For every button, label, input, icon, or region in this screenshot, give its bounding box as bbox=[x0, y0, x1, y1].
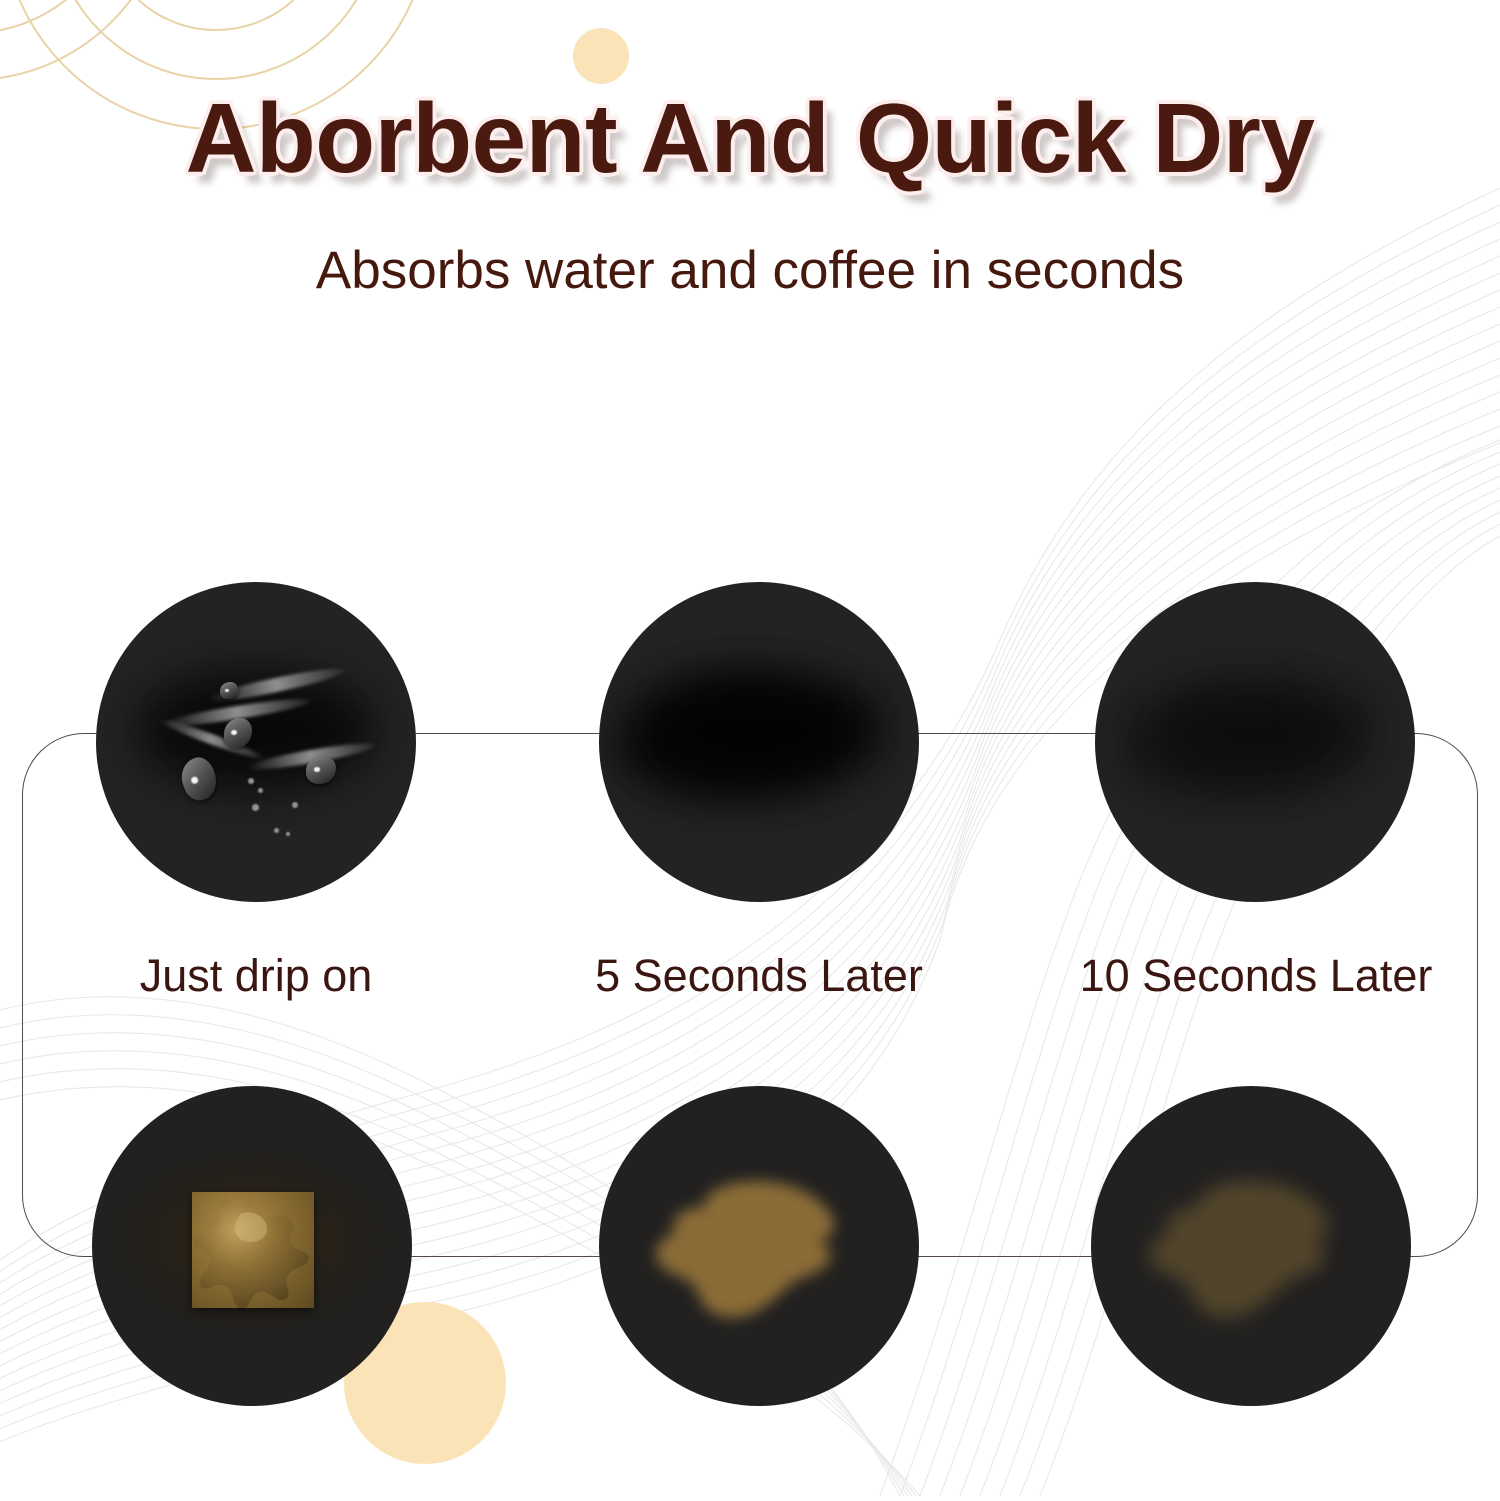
stage-label-2: 5 Seconds Later bbox=[587, 950, 931, 1002]
droplet-highlight bbox=[314, 767, 321, 772]
absorption-demo-grid: Just drip on 5 Seconds Later 10 Seconds … bbox=[0, 0, 1500, 1496]
water-stage-2-disc bbox=[599, 582, 919, 902]
water-stage-3-disc bbox=[1095, 582, 1415, 902]
coffee-stage-3-disc bbox=[1091, 1086, 1411, 1406]
droplet-highlight bbox=[231, 730, 237, 735]
water-microdrop-3 bbox=[252, 804, 259, 811]
coffee-splat-droplet bbox=[192, 1192, 314, 1308]
water-microdrop-1 bbox=[248, 778, 254, 784]
droplet-highlight bbox=[190, 775, 200, 785]
water-microdrop-4 bbox=[292, 802, 298, 808]
water-microdrop-5 bbox=[274, 828, 279, 833]
coffee-stain-3 bbox=[1137, 1164, 1363, 1336]
stage-label-1: Just drip on bbox=[96, 950, 416, 1002]
droplet-highlight bbox=[225, 689, 229, 692]
water-stage-1-disc bbox=[96, 582, 416, 902]
water-microdrop-2 bbox=[258, 788, 263, 793]
water-microdrop-6 bbox=[286, 832, 290, 836]
water-wet-patch-2-core bbox=[651, 686, 851, 778]
water-droplet-right bbox=[306, 756, 336, 784]
coffee-stain-2 bbox=[643, 1164, 869, 1336]
water-wet-patch-3-core bbox=[1157, 692, 1343, 776]
coffee-stage-2-disc bbox=[599, 1086, 919, 1406]
stage-label-3: 10 Seconds Later bbox=[1072, 950, 1440, 1002]
coffee-stage-1-disc bbox=[92, 1086, 412, 1406]
